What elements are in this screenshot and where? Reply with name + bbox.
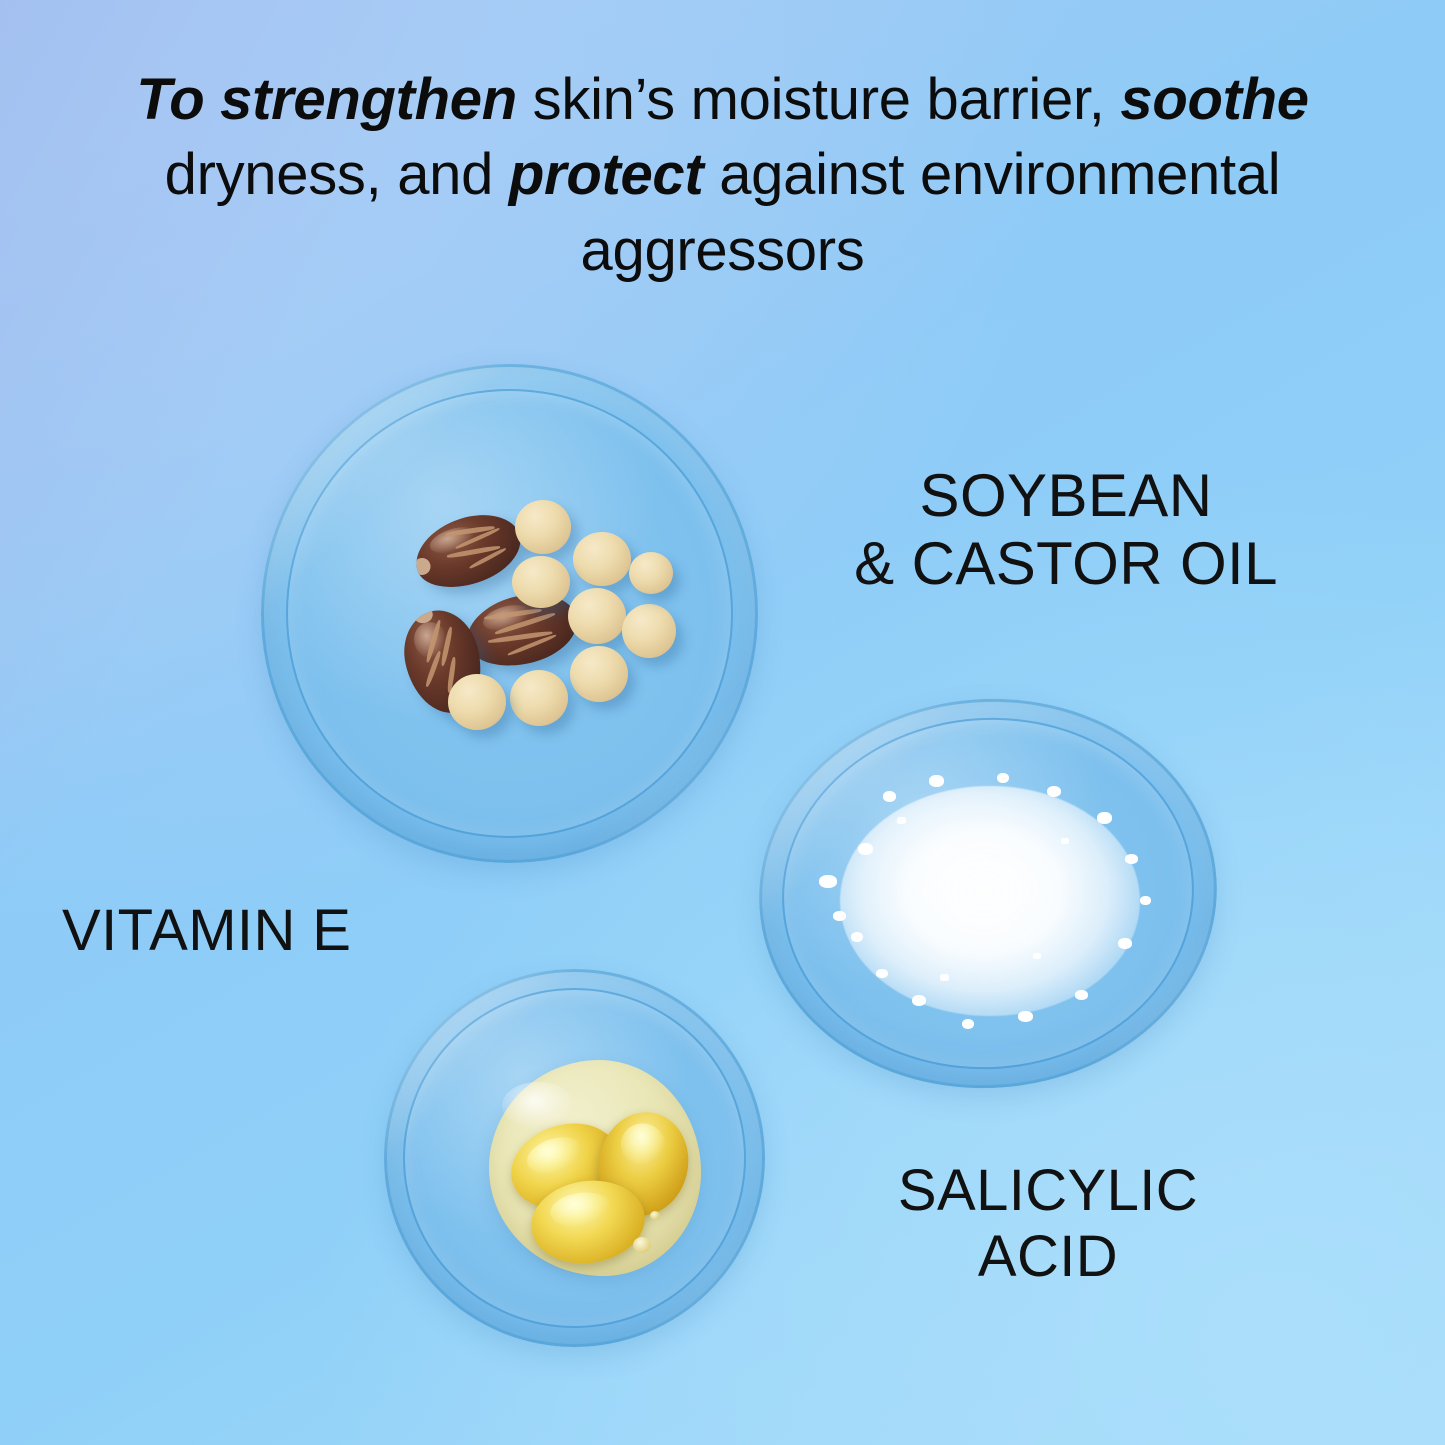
headline-emphasis: To strengthen xyxy=(136,67,517,132)
powder-grain xyxy=(883,791,896,802)
soybean xyxy=(512,556,570,608)
soybean xyxy=(515,500,571,554)
powder-mound xyxy=(840,786,1139,1017)
ingredient-label-soybean-castor: SOYBEAN & CASTOR OIL xyxy=(806,462,1326,599)
capsule-highlight xyxy=(523,1131,588,1180)
powder-grain xyxy=(929,775,944,787)
headline-text: To strengthen skin’s moisture barrier, s… xyxy=(0,62,1445,288)
soybean xyxy=(448,674,506,730)
capsule-highlight xyxy=(548,1189,614,1230)
castor-bean-caruncle xyxy=(411,556,433,578)
headline-emphasis: soothe xyxy=(1120,67,1308,132)
oil-highlight xyxy=(502,1082,574,1130)
powder-grain xyxy=(1047,786,1061,797)
powder-grain xyxy=(1075,990,1088,1000)
soybean xyxy=(622,604,676,658)
headline-regular: skin’s moisture barrier, xyxy=(517,67,1121,132)
soybean xyxy=(568,588,626,644)
salicylic-acid-powder xyxy=(812,770,1168,1032)
soybean xyxy=(629,552,673,594)
powder-grain xyxy=(1125,854,1138,864)
capsule-highlight xyxy=(617,1120,669,1170)
vitamin-e-oil-pool xyxy=(489,1060,701,1276)
powder-grain xyxy=(1118,938,1132,949)
powder-grain xyxy=(912,995,926,1006)
oil-droplet xyxy=(633,1237,651,1253)
soybean-castor-cluster xyxy=(390,500,680,735)
powder-grain xyxy=(1018,1011,1033,1022)
powder-grain xyxy=(1140,896,1151,905)
soybean xyxy=(573,532,631,586)
powder-fleck xyxy=(1061,838,1069,844)
powder-grain xyxy=(962,1019,974,1029)
powder-grain xyxy=(819,875,837,888)
ingredient-label-salicylic-acid: SALICYLIC ACID xyxy=(838,1158,1258,1290)
headline-regular: dryness, and xyxy=(165,142,509,207)
powder-fleck xyxy=(1033,953,1041,959)
soybean xyxy=(510,670,568,726)
powder-grain xyxy=(876,969,888,978)
ingredient-label-vitamin-e: VITAMIN E xyxy=(62,898,482,964)
powder-fleck xyxy=(897,817,906,824)
oil-droplet xyxy=(650,1211,660,1220)
powder-grain xyxy=(997,773,1009,783)
soybean xyxy=(570,646,628,702)
powder-grain xyxy=(1097,812,1112,824)
castor-bean xyxy=(406,503,529,599)
headline-emphasis: protect xyxy=(509,142,703,207)
powder-fleck xyxy=(940,974,949,981)
